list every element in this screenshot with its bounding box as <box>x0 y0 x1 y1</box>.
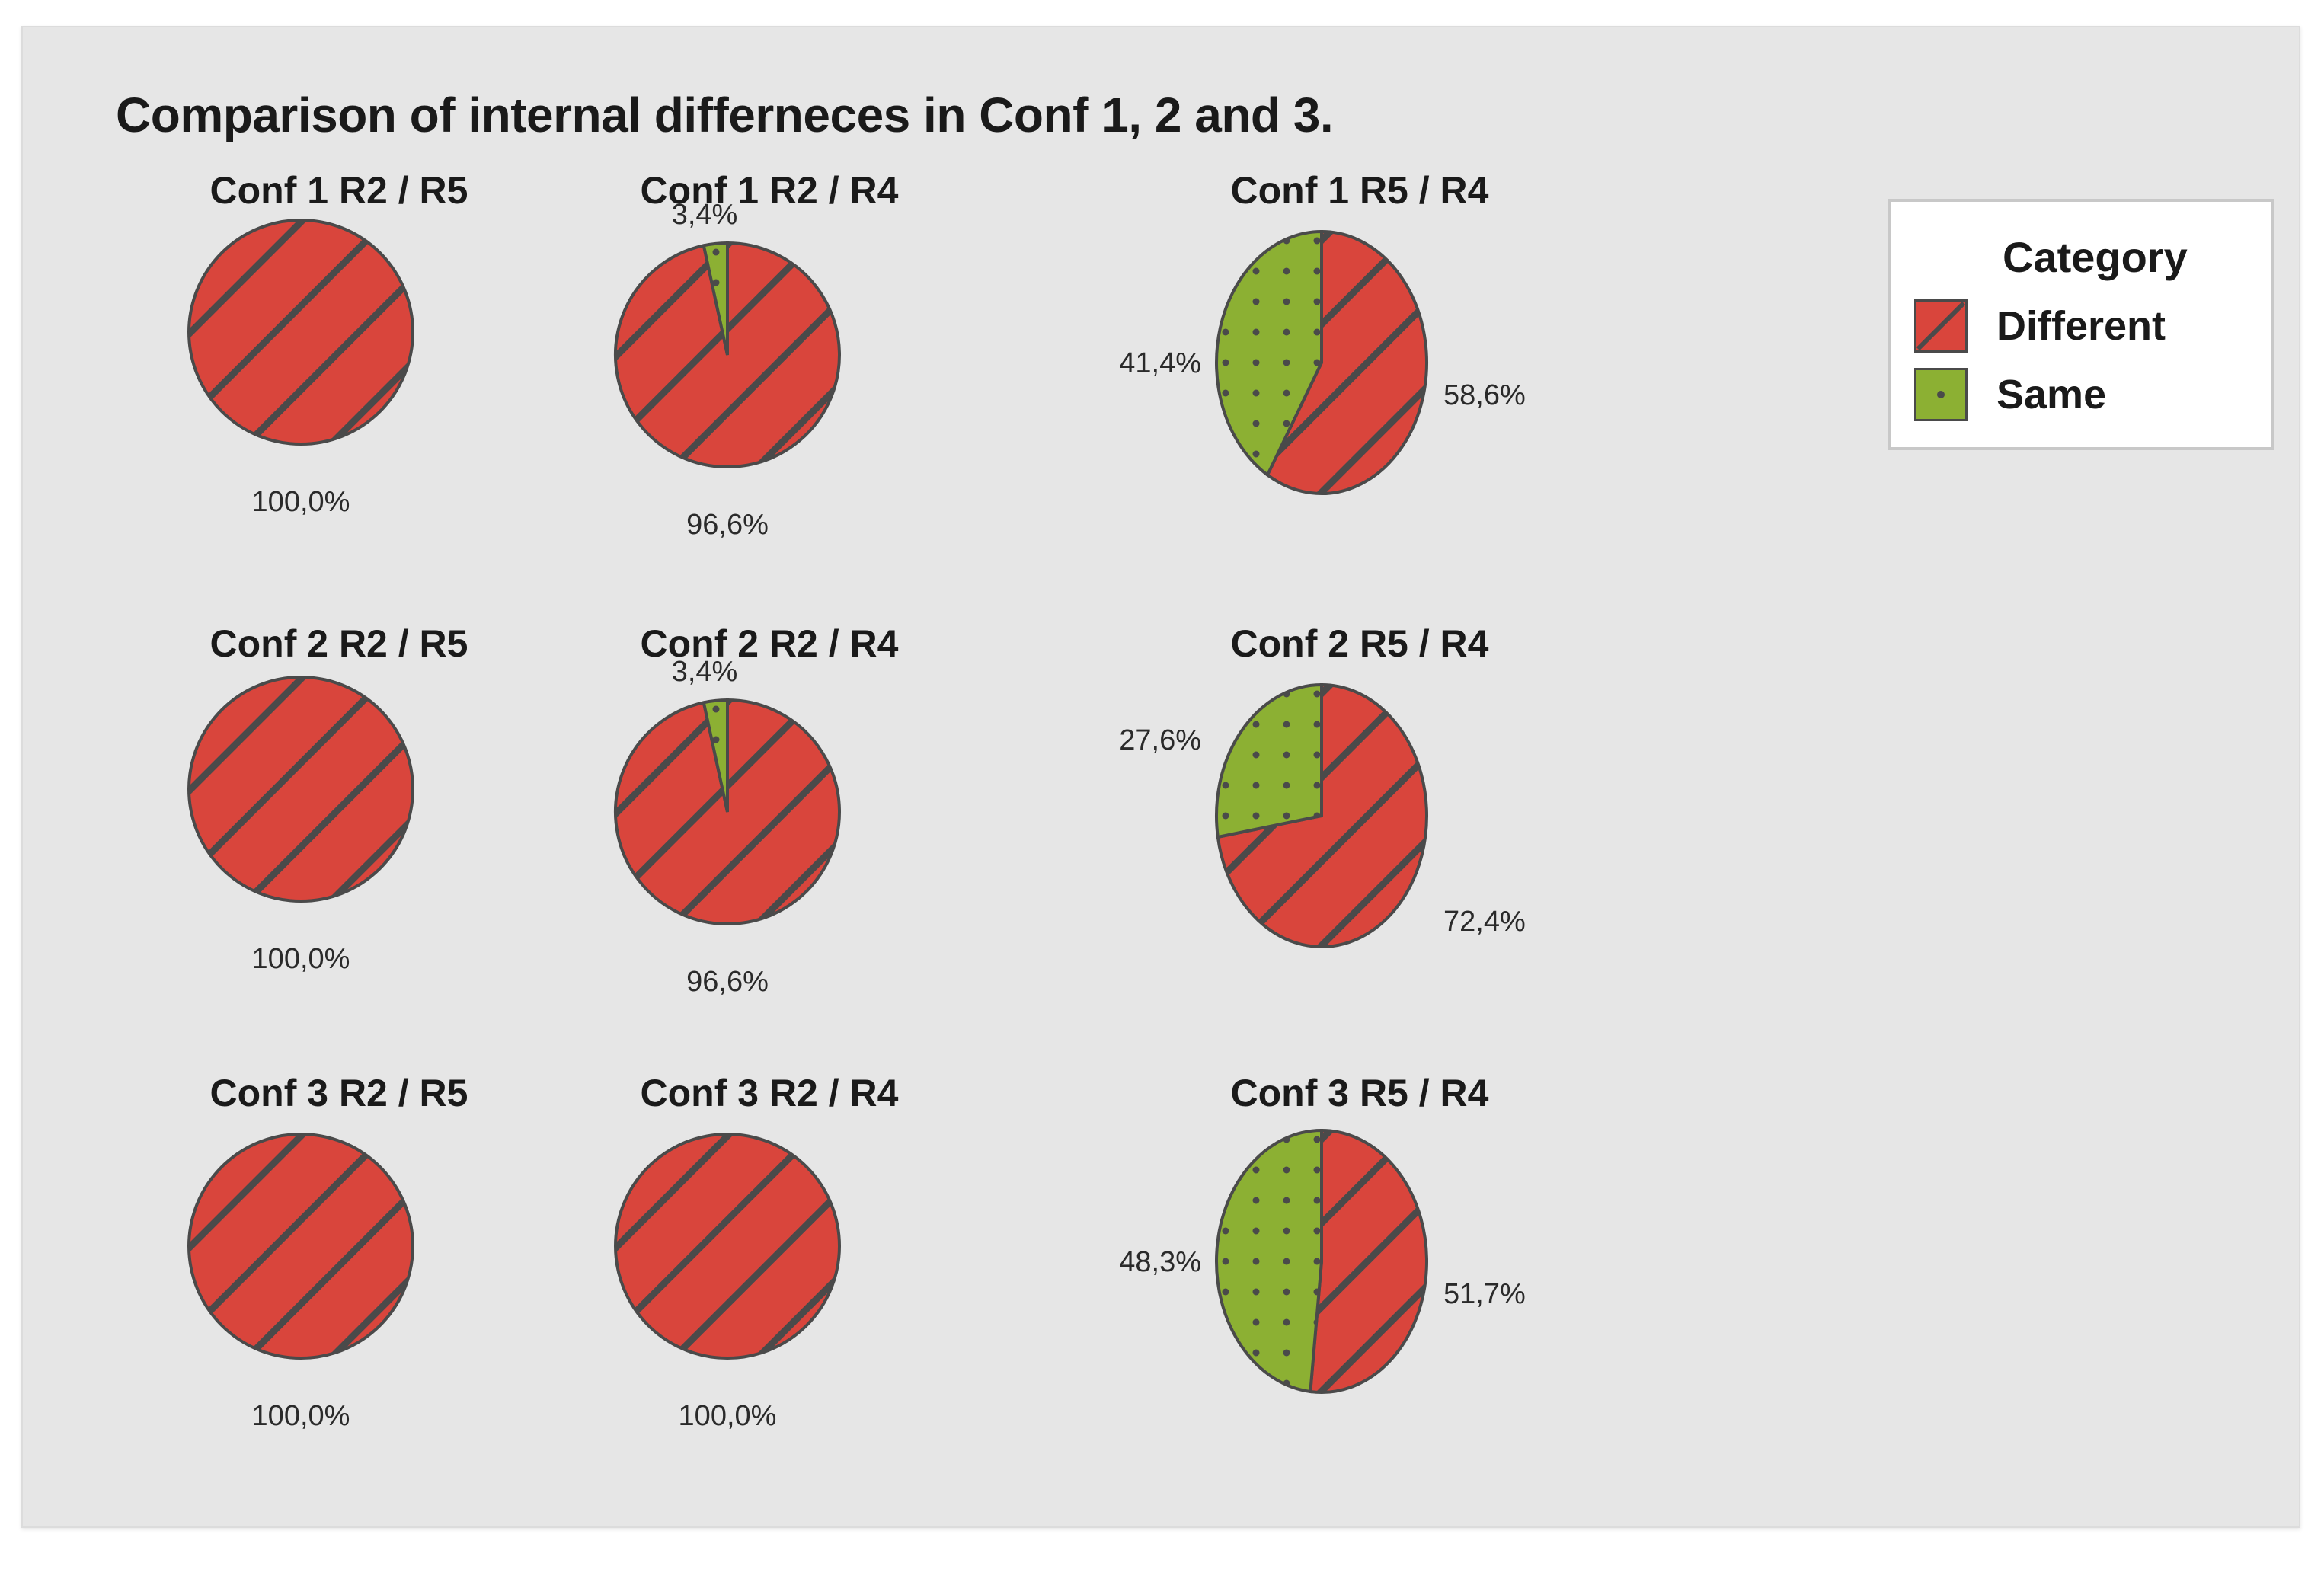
legend-item-same[interactable]: Same <box>1914 368 2106 421</box>
pie-chart[interactable] <box>183 214 419 450</box>
pie-value-label: 58,6% <box>1443 379 1607 412</box>
pie-slice-different[interactable] <box>189 677 413 901</box>
legend: Category Different Same <box>1888 199 2274 450</box>
legend-label-same: Same <box>1996 371 2106 418</box>
legend-title: Category <box>2003 232 2188 282</box>
pie-chart[interactable] <box>1210 225 1433 500</box>
pie-value-label: 100,0% <box>628 1400 826 1433</box>
legend-swatch-different <box>1914 299 1968 353</box>
pie-slice-different[interactable] <box>189 1134 413 1358</box>
pie-chart[interactable] <box>609 1128 846 1364</box>
pie-value-label: 96,6% <box>628 509 826 542</box>
pie-slice-same[interactable] <box>1216 1130 1322 1392</box>
legend-swatch-same <box>1914 368 1968 421</box>
pie-value-label: 27,6% <box>1037 724 1201 757</box>
pie-value-label: 100,0% <box>202 943 400 976</box>
pie-value-label: 48,3% <box>1037 1246 1201 1279</box>
pie-value-label: 96,6% <box>628 966 826 999</box>
pie-value-label: 41,4% <box>1037 347 1201 380</box>
pie-chart[interactable] <box>609 237 846 473</box>
pie-value-label: 3,4% <box>606 656 804 689</box>
pie-chart[interactable] <box>1210 679 1433 953</box>
pie-value-label: 100,0% <box>202 1400 400 1433</box>
pie-slice-different[interactable] <box>189 220 413 444</box>
pie-value-label: 100,0% <box>202 486 400 519</box>
pie-chart[interactable] <box>1210 1124 1433 1398</box>
pie-chart[interactable] <box>183 671 419 907</box>
pie-value-label: 72,4% <box>1443 906 1607 938</box>
pie-slice-different[interactable] <box>615 1134 839 1358</box>
pie-slice-same[interactable] <box>1216 685 1322 837</box>
pie-chart[interactable] <box>183 1128 419 1364</box>
chart-panel: Comparison of internal differneces in Co… <box>21 26 2300 1528</box>
legend-item-different[interactable]: Different <box>1914 299 2166 353</box>
pie-title: Conf 3 R2 / R4 <box>556 1071 983 1115</box>
pie-slice-different[interactable] <box>1310 1130 1427 1392</box>
legend-label-different: Different <box>1996 302 2166 350</box>
pie-value-label: 3,4% <box>606 199 804 232</box>
pie-title: Conf 2 R2 / R5 <box>126 622 552 666</box>
pie-title: Conf 1 R5 / R4 <box>1146 168 1573 213</box>
page-title: Comparison of internal differneces in Co… <box>116 87 1333 143</box>
pie-value-label: 51,7% <box>1443 1278 1607 1311</box>
pie-title: Conf 1 R2 / R5 <box>126 168 552 213</box>
pie-chart[interactable] <box>609 694 846 930</box>
pie-title: Conf 3 R5 / R4 <box>1146 1071 1573 1115</box>
pie-title: Conf 2 R5 / R4 <box>1146 622 1573 666</box>
pie-title: Conf 3 R2 / R5 <box>126 1071 552 1115</box>
